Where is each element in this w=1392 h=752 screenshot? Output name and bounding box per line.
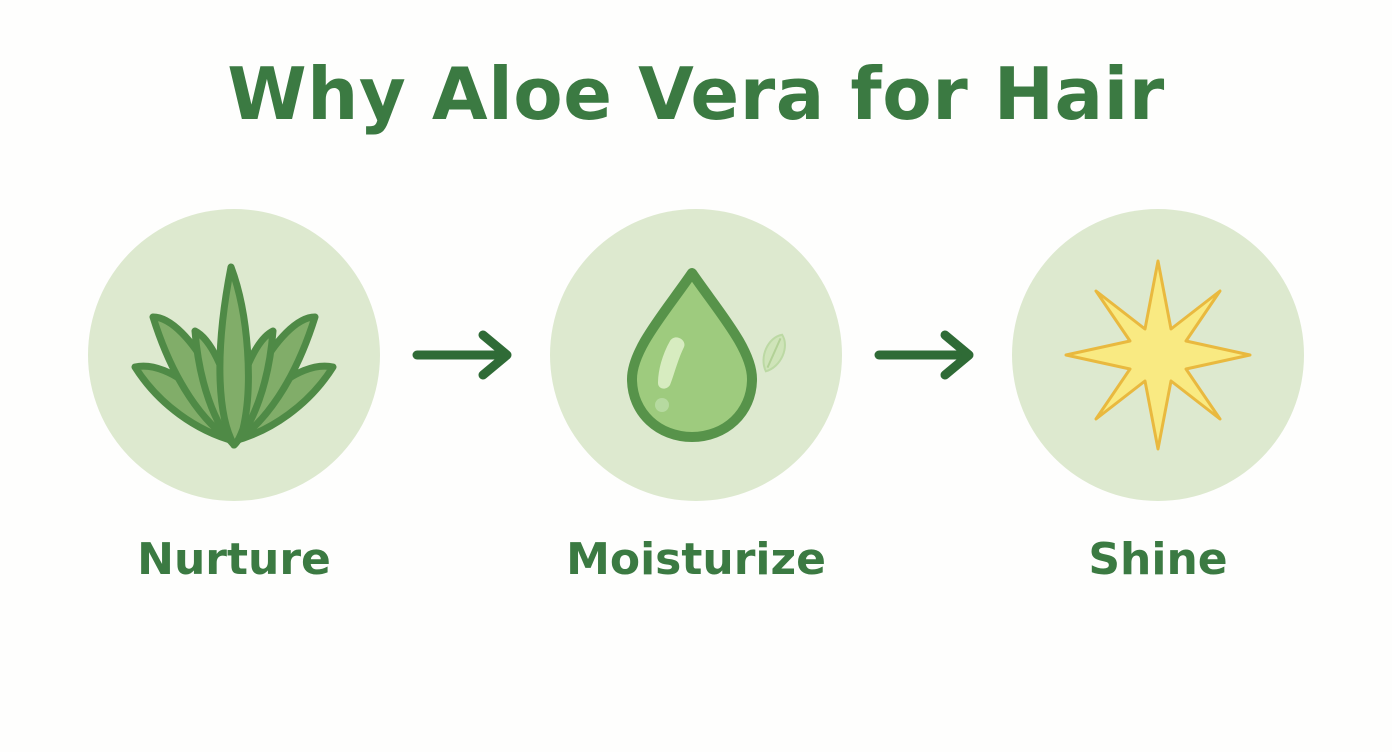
step-label-shine: Shine [1012, 534, 1304, 585]
flow-step-shine[interactable] [1012, 209, 1304, 501]
aloe-plant-icon [88, 209, 380, 501]
arrow-right-icon-1 [380, 320, 550, 390]
flow-step-moisturize[interactable] [550, 209, 842, 501]
flow-step-nurture[interactable] [88, 209, 380, 501]
arrow-right-icon-2 [842, 320, 1012, 390]
process-flow [0, 205, 1392, 505]
step-label-moisturize: Moisturize [550, 534, 842, 585]
water-droplet-icon [550, 209, 842, 501]
sparkle-star-icon [1012, 209, 1304, 501]
step-labels: Nurture Moisturize Shine [0, 534, 1392, 614]
infographic-canvas: Why Aloe Vera for Hair [0, 0, 1392, 752]
page-title: Why Aloe Vera for Hair [0, 52, 1392, 136]
step-label-nurture: Nurture [88, 534, 380, 585]
